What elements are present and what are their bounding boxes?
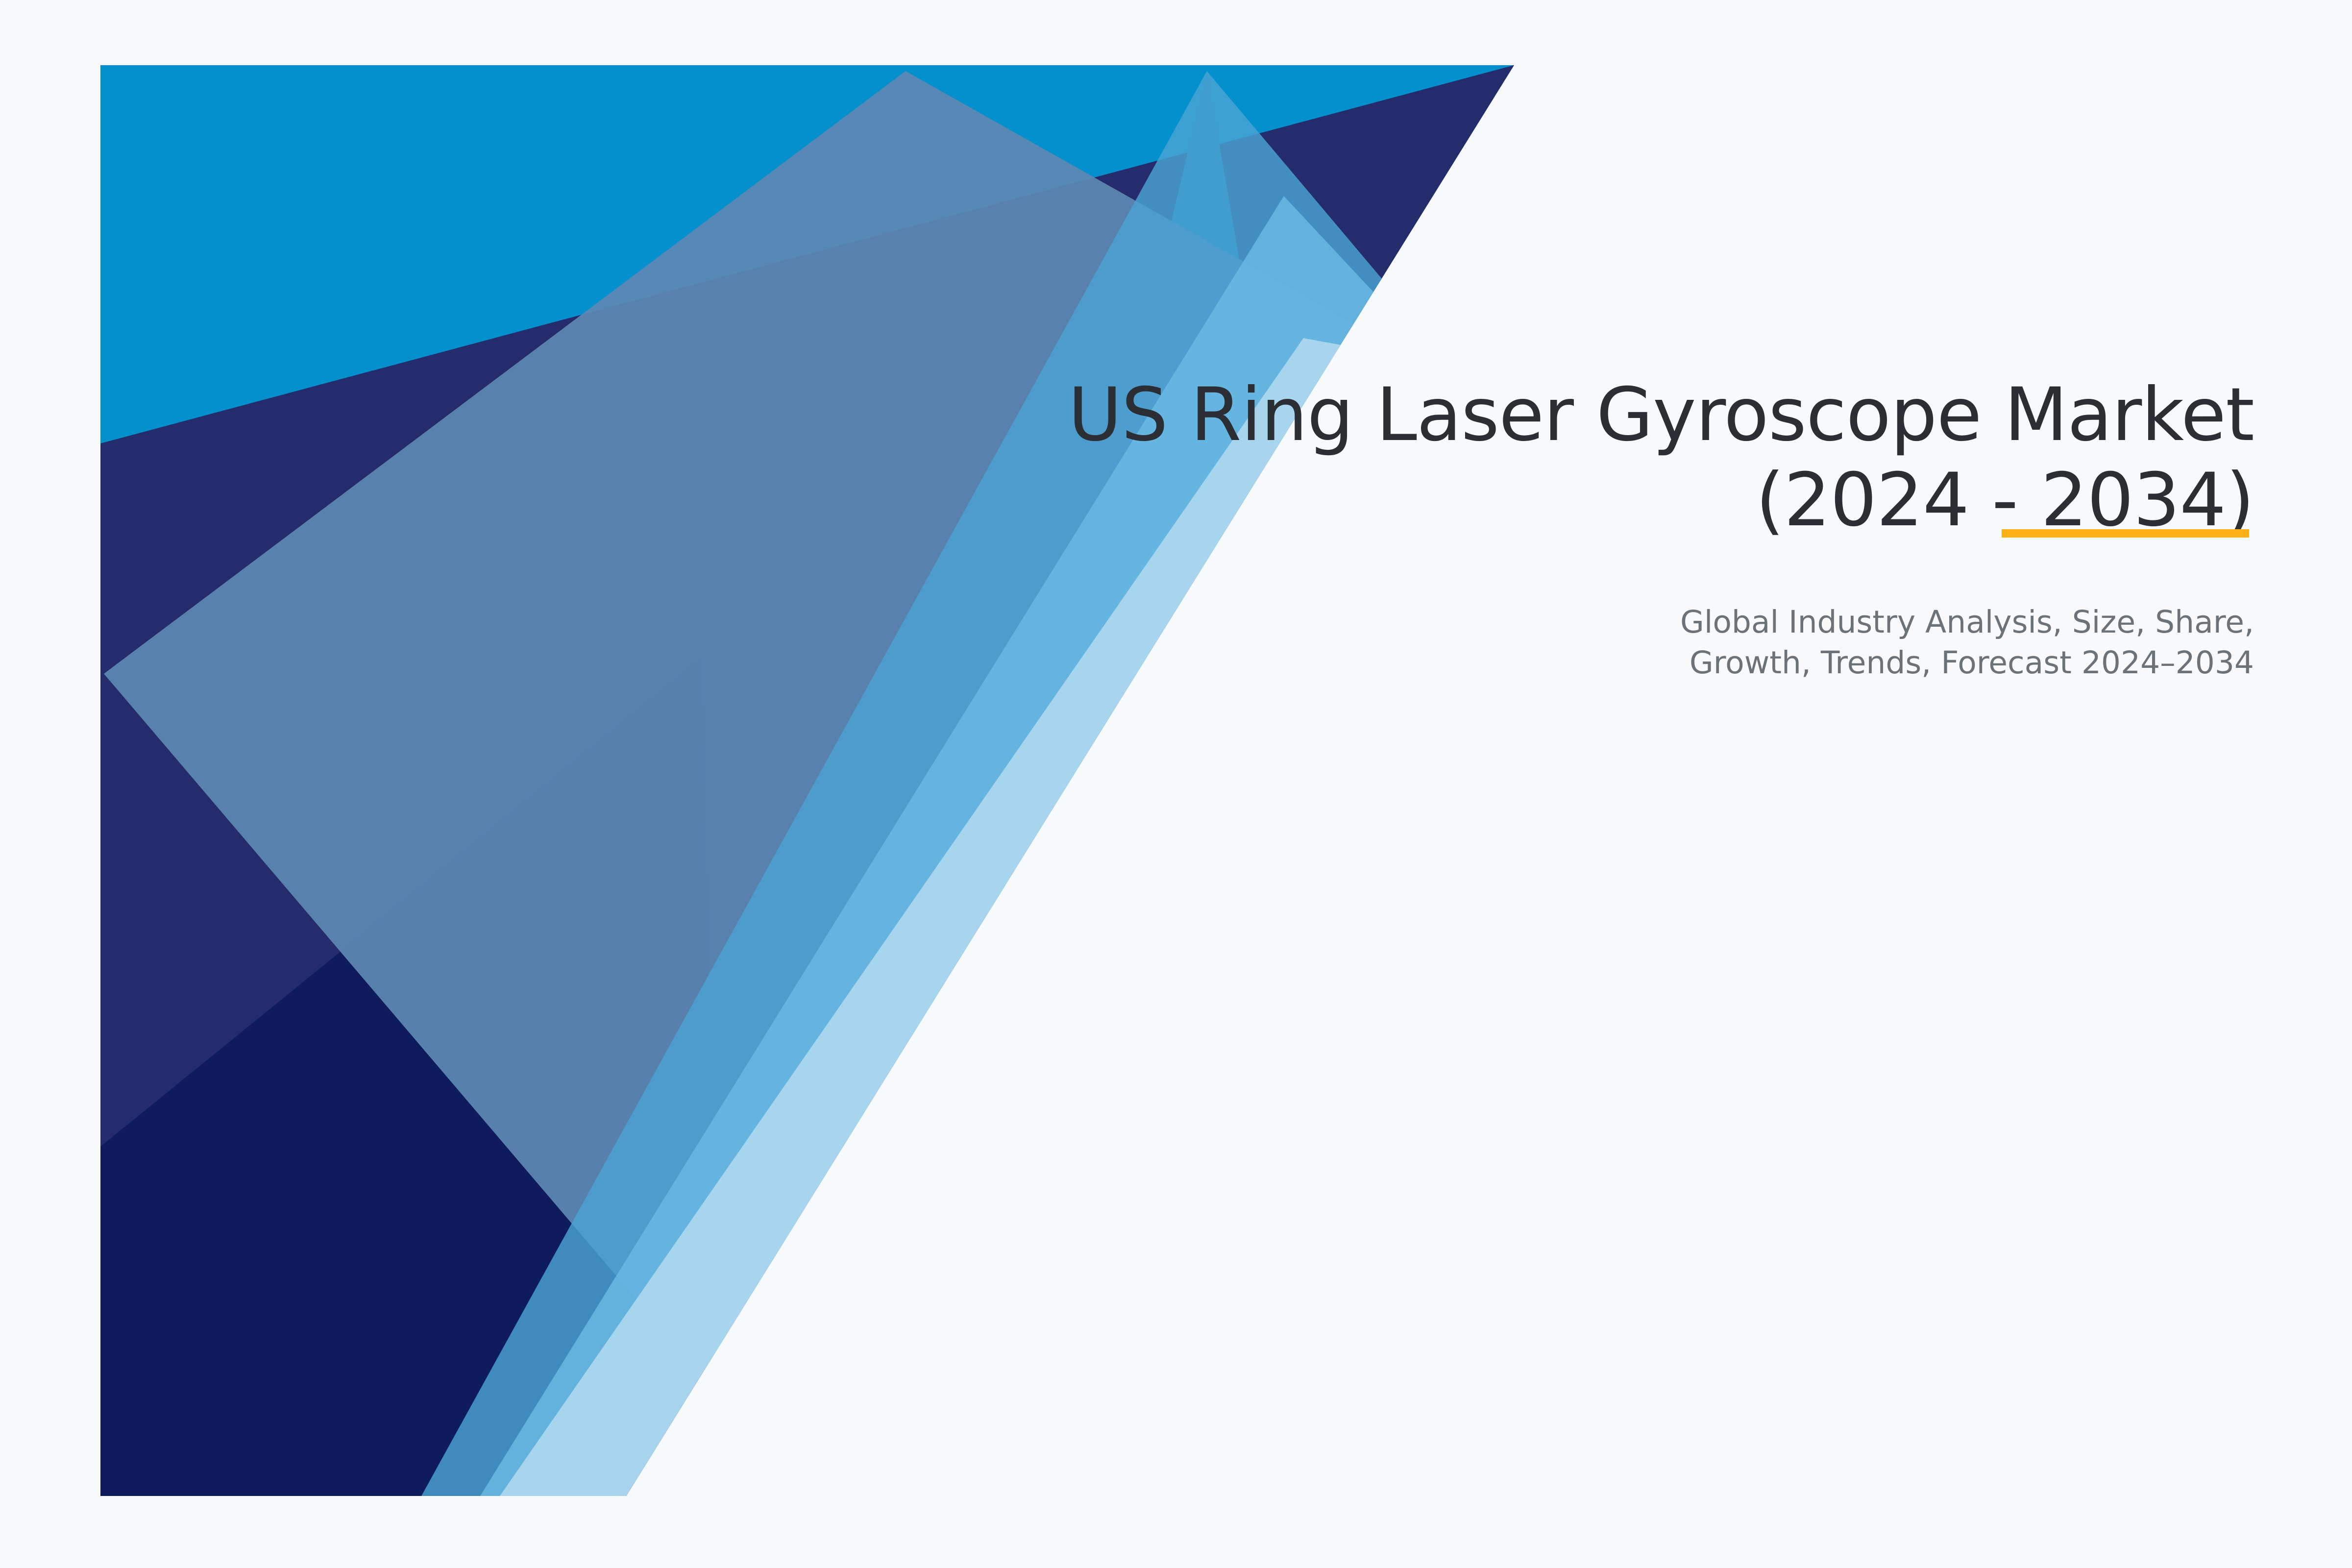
artwork-svg	[0, 0, 2352, 1568]
cover-text-block: US Ring Laser Gyroscope Market (2024 - 2…	[1000, 372, 2254, 683]
page-subtitle: Global Industry Analysis, Size, Share, G…	[1000, 543, 2254, 683]
report-cover-page: US Ring Laser Gyroscope Market (2024 - 2…	[0, 0, 2352, 1568]
title-accent-underline	[2002, 529, 2249, 538]
page-title: US Ring Laser Gyroscope Market (2024 - 2…	[1000, 372, 2254, 543]
abstract-geometric-banner	[0, 0, 2352, 1568]
